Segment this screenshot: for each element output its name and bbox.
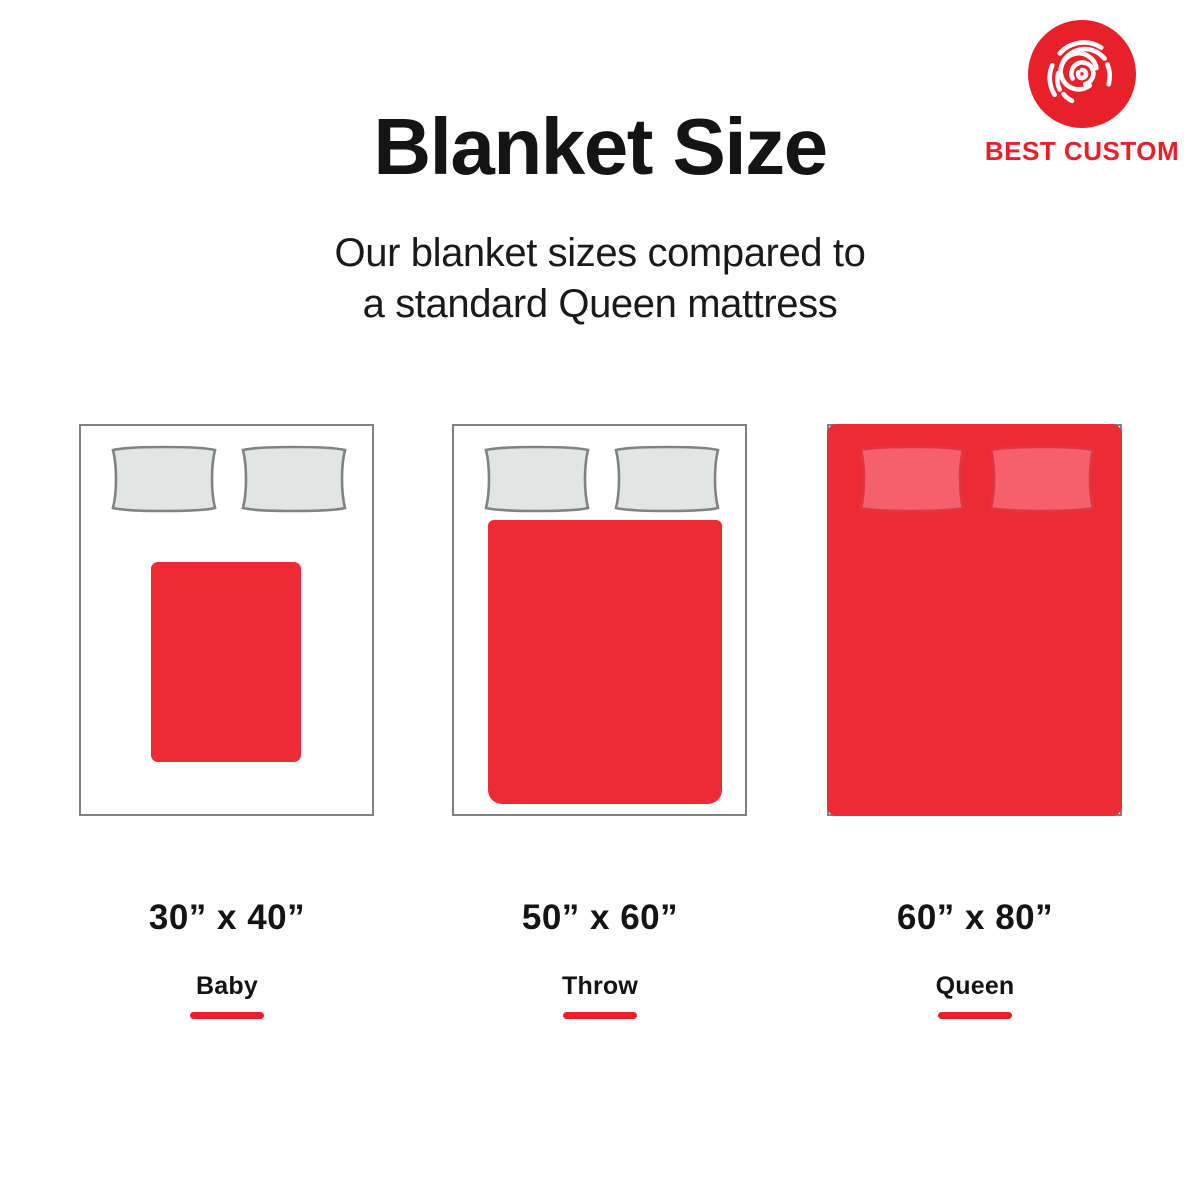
infographic-page: BEST CUSTOM Blanket Size Our blanket siz… (0, 0, 1200, 1200)
caption-underline (938, 1012, 1012, 1019)
pillow-icon (611, 444, 723, 514)
subtitle-line-2: a standard Queen mattress (0, 279, 1200, 330)
caption-underline (190, 1012, 264, 1019)
pillow-icon (856, 444, 968, 514)
mattress-diagram-throw (452, 424, 747, 816)
mattress-diagram-baby (79, 424, 374, 816)
page-subtitle: Our blanket sizes compared to a standard… (0, 228, 1200, 330)
pillow-icon (986, 444, 1098, 514)
blanket-shape-baby (151, 562, 301, 762)
blanket-shape-throw (488, 520, 722, 804)
pillow-icon (238, 444, 350, 514)
caption-baby: 30” x 40” Baby (47, 898, 407, 1019)
caption-label: Queen (795, 972, 1155, 1000)
caption-dimensions: 30” x 40” (47, 898, 407, 938)
subtitle-line-1: Our blanket sizes compared to (0, 228, 1200, 279)
pillow-icon (481, 444, 593, 514)
caption-underline (563, 1012, 637, 1019)
pillow-icon (108, 444, 220, 514)
caption-row: 30” x 40” Baby 50” x 60” Throw 60” x 80”… (0, 898, 1200, 1038)
page-title: Blanket Size (0, 104, 1200, 190)
caption-throw: 50” x 60” Throw (420, 898, 780, 1019)
caption-label: Throw (420, 972, 780, 1000)
caption-label: Baby (47, 972, 407, 1000)
mattress-diagram-queen (827, 424, 1122, 816)
caption-dimensions: 60” x 80” (795, 898, 1155, 938)
caption-queen: 60” x 80” Queen (795, 898, 1155, 1019)
caption-dimensions: 50” x 60” (420, 898, 780, 938)
bed-diagram-row (0, 424, 1200, 816)
